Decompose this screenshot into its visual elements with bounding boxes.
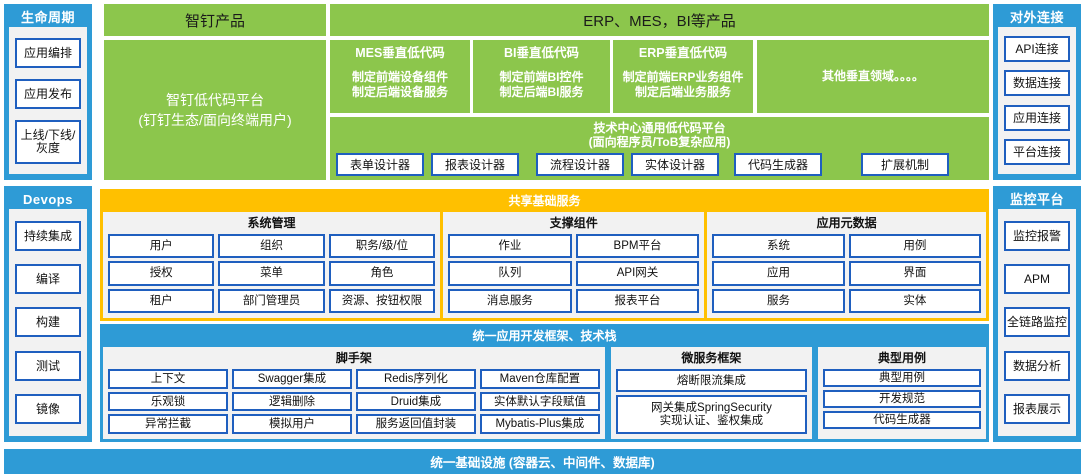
table-row: 乐观锁 逻辑删除 Druid集成 实体默认字段赋值 <box>108 392 600 412</box>
table-row: 作业 BPM平台 <box>448 234 699 258</box>
framework-col-scaffold-title: 脚手架 <box>108 350 600 366</box>
lifecycle-item-app-release[interactable]: 应用发布 <box>15 79 81 109</box>
vertical-card-bi-title: BI垂直低代码 <box>504 46 579 61</box>
support-components-rows: 作业 BPM平台 队列 API网关 消息服务 报表平台 <box>448 234 699 313</box>
zhiding-products-label: 智钉产品 <box>104 4 326 36</box>
shared-services-band: 共享基础服务 系统管理 用户 组织 职务/级/位 授权 菜单 角色 <box>100 189 989 321</box>
fw-druid-integration[interactable]: Druid集成 <box>356 392 476 412</box>
table-row: 服务 实体 <box>712 289 981 313</box>
shared-col-app-metadata-title: 应用元数据 <box>712 215 981 231</box>
devops-item-compile[interactable]: 编译 <box>15 264 81 294</box>
fw-gateway-springsecurity[interactable]: 网关集成SpringSecurity 实现认证、鉴权集成 <box>616 395 807 434</box>
infrastructure-bar: 统一基础设施 (容器云、中间件、数据库) <box>4 449 1081 474</box>
svc-department-admin[interactable]: 部门管理员 <box>218 289 324 313</box>
shared-col-support-components: 支撑组件 作业 BPM平台 队列 API网关 消息服务 报表平台 <box>443 212 704 318</box>
table-row: 队列 API网关 <box>448 261 699 285</box>
svc-entity[interactable]: 实体 <box>849 289 981 313</box>
svc-system[interactable]: 系统 <box>712 234 844 258</box>
fw-logical-delete[interactable]: 逻辑删除 <box>232 392 352 412</box>
vertical-card-erp-title: ERP垂直低代码 <box>639 46 727 61</box>
fw-dev-standards[interactable]: 开发规范 <box>823 390 981 408</box>
fw-exception-interception[interactable]: 异常拦截 <box>108 414 228 434</box>
panel-external-connections: 对外连接 API连接 数据连接 应用连接 平台连接 <box>993 4 1081 180</box>
infrastructure-label: 统一基础设施 (容器云、中间件、数据库) <box>430 452 654 471</box>
svc-user[interactable]: 用户 <box>108 234 214 258</box>
green-header-erp-mes-bi: ERP、MES，BI等产品 <box>330 4 989 36</box>
shared-services-title: 共享基础服务 <box>103 192 986 212</box>
fw-swagger-integration[interactable]: Swagger集成 <box>232 369 352 389</box>
svc-queue[interactable]: 队列 <box>448 261 572 285</box>
devops-item-image[interactable]: 镜像 <box>15 394 81 424</box>
svc-message-service[interactable]: 消息服务 <box>448 289 572 313</box>
svc-organization[interactable]: 组织 <box>218 234 324 258</box>
table-row: 上下文 Swagger集成 Redis序列化 Maven仓库配置 <box>108 369 600 389</box>
external-item-app-connection[interactable]: 应用连接 <box>1004 105 1070 131</box>
framework-col-microservice-title: 微服务框架 <box>616 350 807 366</box>
table-row: 用户 组织 职务/级/位 <box>108 234 435 258</box>
monitoring-item-data-analysis[interactable]: 数据分析 <box>1004 351 1070 381</box>
zhiding-platform-title: 智钉低代码平台 <box>166 90 264 110</box>
vertical-card-bi: BI垂直低代码 制定前端BI控件 制定后端BI服务 <box>473 40 610 113</box>
panel-lifecycle-title: 生命周期 <box>21 8 75 27</box>
vertical-card-mes-body: 制定前端设备组件 制定后端设备服务 <box>352 70 448 100</box>
microservice-items: 熔断限流集成 网关集成SpringSecurity 实现认证、鉴权集成 <box>616 369 807 434</box>
fw-optimistic-lock[interactable]: 乐观锁 <box>108 392 228 412</box>
svc-bpm-platform[interactable]: BPM平台 <box>576 234 700 258</box>
vertical-card-erp: ERP垂直低代码 制定前端ERP业务组件 制定后端业务服务 <box>613 40 753 113</box>
shared-col-system-management: 系统管理 用户 组织 职务/级/位 授权 菜单 角色 租户 部门管理员 <box>103 212 440 318</box>
svc-position-level[interactable]: 职务/级/位 <box>329 234 435 258</box>
panel-monitoring-title: 监控平台 <box>1010 190 1064 209</box>
panel-devops-title: Devops <box>23 190 73 209</box>
designer-code-generator[interactable]: 代码生成器 <box>734 153 822 176</box>
devops-item-continuous-integration[interactable]: 持续集成 <box>15 221 81 251</box>
tech-center-subtitle: (面向程序员/ToB复杂应用) <box>336 135 983 149</box>
table-row: 授权 菜单 角色 <box>108 261 435 285</box>
fw-mock-user[interactable]: 模拟用户 <box>232 414 352 434</box>
framework-title: 统一应用开发框架、技术栈 <box>103 327 986 347</box>
green-header-zhiding-products: 智钉产品 <box>104 4 326 36</box>
table-row: 系统 用例 <box>712 234 981 258</box>
green-zhiding-lowcode-platform: 智钉低代码平台 (钉钉生态/面向终端用户) <box>104 40 326 180</box>
fw-maven-repo-config[interactable]: Maven仓库配置 <box>480 369 600 389</box>
monitoring-item-alerts[interactable]: 监控报警 <box>1004 221 1070 251</box>
table-row: 异常拦截 模拟用户 服务返回值封装 Mybatis-Plus集成 <box>108 414 600 434</box>
designer-report[interactable]: 报表设计器 <box>431 153 519 176</box>
framework-col-scaffold: 脚手架 上下文 Swagger集成 Redis序列化 Maven仓库配置 乐观锁… <box>103 347 605 439</box>
tech-center-title: 技术中心通用低代码平台 <box>336 121 983 135</box>
table-row: 应用 界面 <box>712 261 981 285</box>
fw-redis-serialization[interactable]: Redis序列化 <box>356 369 476 389</box>
fw-entity-default-field[interactable]: 实体默认字段赋值 <box>480 392 600 412</box>
erp-mes-bi-label: ERP、MES，BI等产品 <box>330 4 989 36</box>
vertical-card-erp-body: 制定前端ERP业务组件 制定后端业务服务 <box>623 70 744 100</box>
framework-col-microservice: 微服务框架 熔断限流集成 网关集成SpringSecurity 实现认证、鉴权集… <box>611 347 812 439</box>
svc-role[interactable]: 角色 <box>329 261 435 285</box>
fw-context[interactable]: 上下文 <box>108 369 228 389</box>
panel-lifecycle: 生命周期 应用编排 应用发布 上线/下线/ 灰度 <box>4 4 92 180</box>
lifecycle-item-online-offline-gray[interactable]: 上线/下线/ 灰度 <box>15 120 81 164</box>
panel-devops-items: 持续集成 编译 构建 测试 镜像 <box>9 209 87 436</box>
shared-col-app-metadata: 应用元数据 系统 用例 应用 界面 服务 实体 <box>707 212 986 318</box>
architecture-diagram: 生命周期 应用编排 应用发布 上线/下线/ 灰度 Devops 持续集成 编译 … <box>0 0 1085 476</box>
fw-service-return-wrap[interactable]: 服务返回值封装 <box>356 414 476 434</box>
tech-center-lowcode-platform: 技术中心通用低代码平台 (面向程序员/ToB复杂应用) 表单设计器 报表设计器 … <box>330 117 989 180</box>
svc-application[interactable]: 应用 <box>712 261 844 285</box>
external-item-platform-connection[interactable]: 平台连接 <box>1004 139 1070 165</box>
monitoring-item-full-link-monitoring[interactable]: 全链路监控 <box>1004 307 1070 337</box>
tech-center-designer-row: 表单设计器 报表设计器 流程设计器 实体设计器 代码生成器 扩展机制 <box>336 153 983 176</box>
monitoring-item-apm[interactable]: APM <box>1004 264 1070 294</box>
app-metadata-rows: 系统 用例 应用 界面 服务 实体 <box>712 234 981 313</box>
framework-columns: 脚手架 上下文 Swagger集成 Redis序列化 Maven仓库配置 乐观锁… <box>103 347 986 439</box>
designer-extension-mechanism[interactable]: 扩展机制 <box>861 153 949 176</box>
svc-menu[interactable]: 菜单 <box>218 261 324 285</box>
fw-circuit-breaker-integration[interactable]: 熔断限流集成 <box>616 369 807 392</box>
vertical-card-mes: MES垂直低代码 制定前端设备组件 制定后端设备服务 <box>330 40 470 113</box>
zhiding-platform-subtitle: (钉钉生态/面向终端用户) <box>138 110 291 130</box>
fw-code-generator[interactable]: 代码生成器 <box>823 411 981 429</box>
svc-tenant[interactable]: 租户 <box>108 289 214 313</box>
shared-col-system-management-title: 系统管理 <box>108 215 435 231</box>
svc-job[interactable]: 作业 <box>448 234 572 258</box>
vertical-card-bi-body: 制定前端BI控件 制定后端BI服务 <box>499 70 583 100</box>
table-row: 消息服务 报表平台 <box>448 289 699 313</box>
fw-typical-use-case[interactable]: 典型用例 <box>823 369 981 387</box>
framework-col-use-cases-title: 典型用例 <box>823 350 981 366</box>
framework-col-use-cases: 典型用例 典型用例 开发规范 代码生成器 <box>818 347 986 439</box>
vertical-card-other-domains-label: 其他垂直领域。。。。 <box>822 69 924 84</box>
lifecycle-item-app-orchestration[interactable]: 应用编排 <box>15 38 81 68</box>
system-management-rows: 用户 组织 职务/级/位 授权 菜单 角色 租户 部门管理员 资源、按钮权限 <box>108 234 435 313</box>
external-item-data-connection[interactable]: 数据连接 <box>1004 70 1070 96</box>
external-item-api-connection[interactable]: API连接 <box>1004 36 1070 62</box>
svc-api-gateway[interactable]: API网关 <box>576 261 700 285</box>
monitoring-item-report-display[interactable]: 报表展示 <box>1004 394 1070 424</box>
svc-use-case[interactable]: 用例 <box>849 234 981 258</box>
svc-service[interactable]: 服务 <box>712 289 844 313</box>
fw-mybatis-plus-integration[interactable]: Mybatis-Plus集成 <box>480 414 600 434</box>
panel-lifecycle-items: 应用编排 应用发布 上线/下线/ 灰度 <box>9 27 87 174</box>
vertical-card-other-domains: 其他垂直领域。。。。 <box>757 40 989 113</box>
devops-item-test[interactable]: 测试 <box>15 351 81 381</box>
scaffold-rows: 上下文 Swagger集成 Redis序列化 Maven仓库配置 乐观锁 逻辑删… <box>108 369 600 434</box>
panel-external-connections-title: 对外连接 <box>1010 8 1064 27</box>
framework-band: 统一应用开发框架、技术栈 脚手架 上下文 Swagger集成 Redis序列化 … <box>100 324 989 442</box>
table-row: 租户 部门管理员 资源、按钮权限 <box>108 289 435 313</box>
use-cases-items: 典型用例 开发规范 代码生成器 <box>823 369 981 434</box>
shared-services-columns: 系统管理 用户 组织 职务/级/位 授权 菜单 角色 租户 部门管理员 <box>103 212 986 318</box>
svc-interface[interactable]: 界面 <box>849 261 981 285</box>
panel-devops: Devops 持续集成 编译 构建 测试 镜像 <box>4 186 92 442</box>
designer-form[interactable]: 表单设计器 <box>336 153 424 176</box>
designer-entity[interactable]: 实体设计器 <box>631 153 719 176</box>
svc-authorization[interactable]: 授权 <box>108 261 214 285</box>
svc-resource-button-permission[interactable]: 资源、按钮权限 <box>329 289 435 313</box>
vertical-card-mes-title: MES垂直低代码 <box>355 46 445 61</box>
panel-monitoring-items: 监控报警 APM 全链路监控 数据分析 报表展示 <box>998 209 1076 436</box>
shared-col-support-components-title: 支撑组件 <box>448 215 699 231</box>
devops-item-build[interactable]: 构建 <box>15 307 81 337</box>
panel-monitoring: 监控平台 监控报警 APM 全链路监控 数据分析 报表展示 <box>993 186 1081 442</box>
svc-report-platform[interactable]: 报表平台 <box>576 289 700 313</box>
panel-external-connections-items: API连接 数据连接 应用连接 平台连接 <box>998 27 1076 174</box>
designer-process[interactable]: 流程设计器 <box>536 153 624 176</box>
